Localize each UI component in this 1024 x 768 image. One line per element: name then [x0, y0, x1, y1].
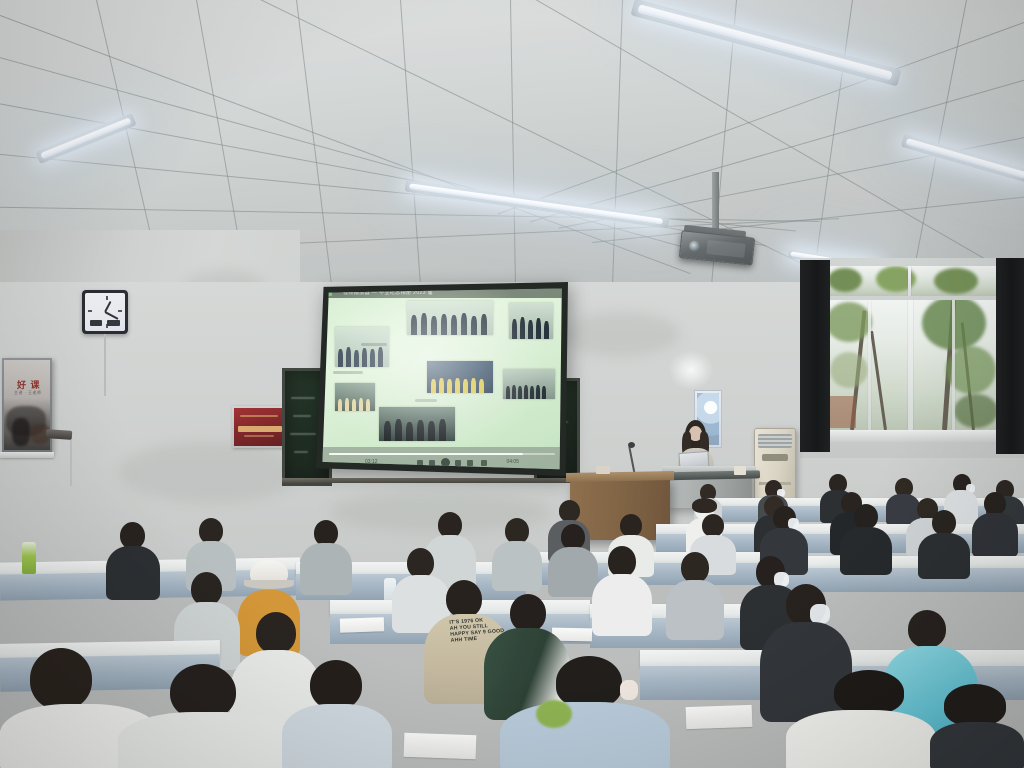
cap-brim	[244, 580, 294, 589]
window-transom	[822, 266, 998, 296]
player-progress-bar[interactable]	[329, 453, 555, 455]
screen-frame: 视频播放器 — 毕业纪念相册 2023 届	[316, 282, 568, 478]
player-play-icon[interactable]	[441, 458, 450, 467]
player-current-time: 03:12	[365, 459, 378, 465]
notebook-papers-d[interactable]	[404, 733, 477, 759]
green-drink-bottle[interactable]	[22, 542, 36, 574]
wall-shelf	[0, 452, 54, 458]
player-duration: 04:05	[506, 459, 519, 465]
air-conditioner-grille	[758, 434, 792, 448]
student-white-knit	[786, 670, 936, 768]
student-r4-c	[300, 520, 352, 594]
student-r5-e	[666, 552, 724, 638]
lecture-hall-photo: 好 课 主讲 · 王老师 视	[0, 0, 1024, 768]
student-r5-d	[592, 546, 652, 634]
wall-light-reflection	[668, 350, 714, 390]
desk-cup	[734, 466, 746, 475]
wall-mounted-device	[46, 429, 73, 440]
curtain-left	[800, 260, 830, 452]
clock-minute-hand	[105, 311, 119, 319]
clock-wire	[104, 334, 106, 396]
student-r3-e	[840, 504, 892, 574]
wall-poster-artwork: 好 课 主讲 · 王老师	[4, 360, 50, 450]
notebook-papers-c[interactable]	[686, 705, 753, 729]
screen-surface: 视频播放器 — 毕业纪念相册 2023 届	[321, 287, 563, 473]
screen-light-bloom	[321, 287, 563, 473]
chalk-tray	[282, 478, 574, 483]
student-r2-e	[972, 492, 1018, 556]
hair-clip	[620, 680, 638, 700]
window-sill	[816, 430, 1004, 442]
student-r4-f	[548, 524, 598, 596]
player-volume-icon[interactable]	[481, 460, 487, 466]
student-r3-f	[918, 510, 970, 578]
desk-paper	[596, 466, 610, 474]
student-front-right-blue	[500, 656, 670, 768]
player-next-icon[interactable]	[467, 460, 473, 466]
clock-face	[85, 293, 125, 331]
player-previous-icon[interactable]	[417, 460, 423, 466]
red-certificate-art	[234, 408, 288, 446]
student-front-center	[118, 664, 298, 768]
wall-conduit	[70, 440, 72, 486]
student-graphic-tee-head	[446, 580, 482, 618]
player-forward-icon[interactable]	[455, 460, 461, 466]
microphone-head	[628, 442, 635, 448]
projector-rod	[712, 172, 719, 234]
student-front-blue	[282, 660, 392, 768]
wall-poster-framed: 好 课 主讲 · 王老师	[2, 358, 52, 452]
teacher-desk-top	[566, 471, 674, 482]
projection-screen: 视频播放器 — 毕业纪念相册 2023 届	[316, 282, 568, 478]
student-r4-a	[106, 522, 160, 598]
green-object	[536, 700, 572, 728]
projector-lens	[689, 240, 701, 252]
player-rewind-icon[interactable]	[429, 460, 435, 466]
wall-poster-subtitle: 主讲 · 王老师	[14, 390, 42, 396]
student-front-far-right	[930, 684, 1024, 768]
window-main	[822, 300, 998, 430]
notebook-papers-a[interactable]	[340, 617, 384, 633]
curtain-right	[996, 258, 1024, 454]
air-conditioner-panel	[762, 454, 788, 461]
player-control-bar[interactable]: 03:12 04:05	[321, 447, 563, 473]
window-wall	[800, 258, 1024, 458]
wall-clock	[82, 290, 128, 334]
